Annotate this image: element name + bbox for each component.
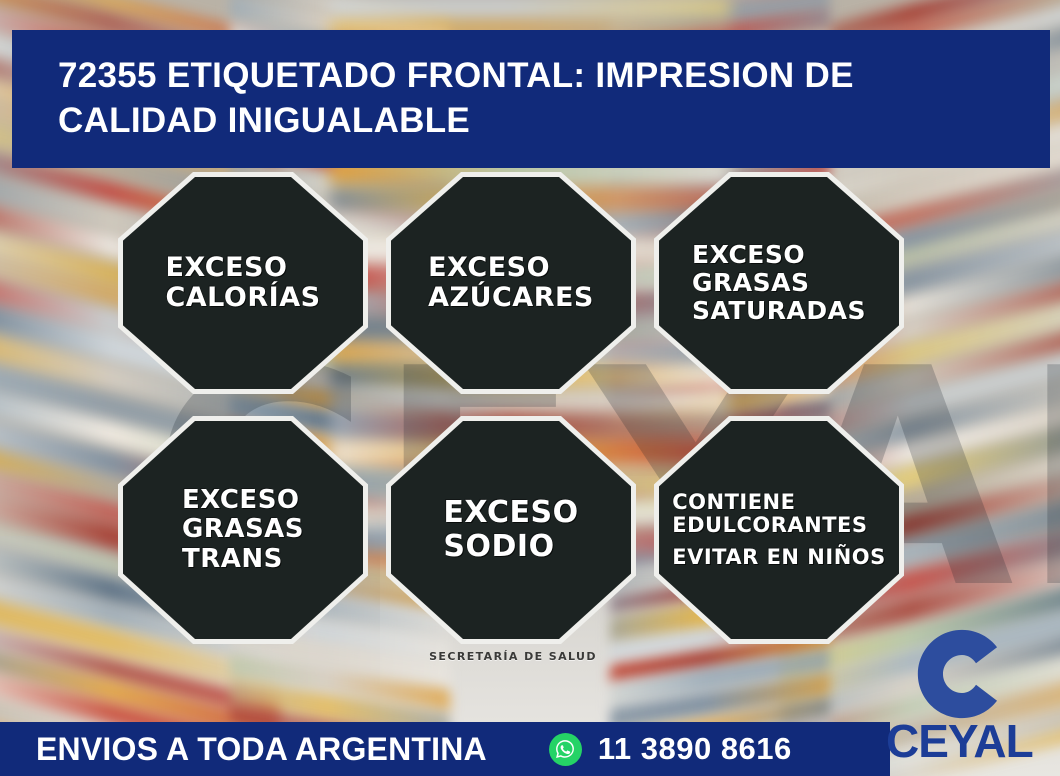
title-banner: 72355 ETIQUETADO FRONTAL: IMPRESION DE C… (12, 30, 1050, 168)
warning-label-azucares: EXCESO AZÚCARES (386, 172, 636, 394)
warning-label-grasas-saturadas: EXCESO GRASAS SATURADAS (654, 172, 904, 394)
health-authority-caption: SECRETARÍA DE SALUD (118, 650, 908, 663)
phone-number[interactable]: 11 3890 8616 (598, 731, 792, 767)
front-of-pack-warning-grid: EXCESO CALORÍAS EXCESO AZÚCARES EXCESO G… (118, 172, 908, 672)
c-logo-icon (914, 626, 1010, 722)
warning-label-edulcorantes-text: CONTIENE EDULCORANTES EVITAR EN NIÑOS (666, 491, 892, 570)
whatsapp-icon[interactable] (549, 733, 582, 766)
footer-bar: ENVIOS A TODA ARGENTINA 11 3890 8616 (0, 722, 890, 776)
warning-label-sodio-text: EXCESO SODIO (437, 496, 584, 563)
ceyal-logo[interactable]: CEYAL (892, 624, 1052, 774)
warning-label-grasas-trans: EXCESO GRASAS TRANS (118, 416, 368, 644)
warning-label-calorias-text: EXCESO CALORÍAS (159, 253, 326, 313)
warning-label-sodio: EXCESO SODIO (386, 416, 636, 644)
warning-label-azucares-text: EXCESO AZÚCARES (422, 253, 600, 313)
shipping-text: ENVIOS A TODA ARGENTINA (36, 731, 487, 768)
warning-label-calorias: EXCESO CALORÍAS (118, 172, 368, 394)
page-title: 72355 ETIQUETADO FRONTAL: IMPRESION DE C… (12, 54, 1050, 144)
warning-label-edulcorantes: CONTIENE EDULCORANTES EVITAR EN NIÑOS (654, 416, 904, 644)
brand-name: CEYAL (886, 714, 1033, 768)
warning-label-grasas-saturadas-text: EXCESO GRASAS SATURADAS (686, 241, 872, 325)
warning-label-grasas-trans-text: EXCESO GRASAS TRANS (176, 486, 310, 573)
contact-phone-block[interactable]: 11 3890 8616 (549, 731, 792, 767)
poster-canvas: CEYAL EXCESO CALORÍAS EXCESO AZÚCARES (0, 0, 1060, 776)
